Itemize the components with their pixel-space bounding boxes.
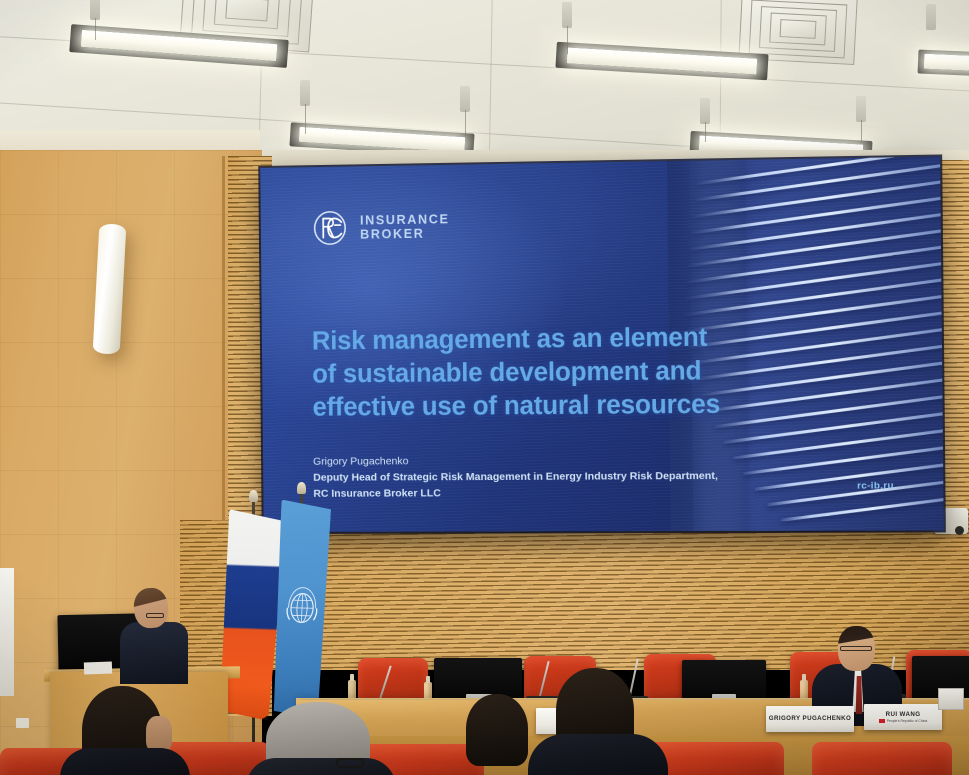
audience-chair — [648, 742, 784, 775]
flag-finial-icon — [297, 482, 306, 494]
logo-line-1: INSURANCE — [360, 212, 450, 228]
audience-shoulder — [246, 758, 396, 775]
audience-shoulder — [528, 734, 668, 775]
speaker-role-line-2: RC Insurance Broker LLC — [313, 484, 793, 502]
whiteboard-edge — [0, 568, 14, 696]
light-hanger — [856, 96, 866, 122]
nameplate-name: GRIGORY PUGACHENKO — [769, 715, 852, 722]
light-hanger — [700, 98, 710, 124]
logo-line-2: BROKER — [360, 226, 450, 242]
china-flag-icon — [879, 719, 885, 723]
slide-website-url: rc-ib.ru — [857, 480, 894, 491]
light-cable — [95, 18, 96, 40]
slide-title-line-3: effective use of natural resources — [312, 388, 751, 425]
nameplate-country: People's Republic of China — [879, 719, 928, 723]
brand-logo: INSURANCE BROKER — [311, 207, 450, 247]
framed-placard — [938, 688, 964, 710]
light-cable — [465, 110, 466, 136]
light-cable — [861, 120, 862, 142]
conference-hall-photo: INSURANCE BROKER Risk management as an e… — [0, 0, 969, 775]
speaker-glasses-icon — [146, 613, 164, 618]
speaker-torso — [120, 622, 188, 684]
audience-glasses-icon — [336, 758, 364, 768]
rc-monogram-icon — [311, 209, 350, 248]
light-cable — [705, 122, 706, 142]
light-cable — [305, 104, 306, 134]
flag-finial-icon — [249, 490, 258, 502]
light-hanger — [300, 80, 310, 106]
nameplate-name: RUI WANG — [886, 711, 921, 718]
presentation-screen: INSURANCE BROKER Risk management as an e… — [260, 157, 943, 532]
nameplate: RUI WANG People's Republic of China — [864, 704, 942, 730]
nameplate: GRIGORY PUGACHENKO — [766, 706, 854, 732]
speaker-head — [133, 587, 170, 629]
un-emblem-icon — [284, 580, 321, 637]
audience-head — [466, 694, 528, 766]
light-cable — [567, 26, 568, 54]
light-hanger — [90, 0, 100, 20]
slide-speaker-block: Grigory Pugachenko Deputy Head of Strate… — [313, 452, 794, 502]
light-hanger — [926, 4, 936, 30]
light-hanger — [562, 2, 572, 28]
slide-title-line-1: Risk management as an element — [312, 321, 751, 359]
podium-papers — [84, 662, 112, 675]
slide-title: Risk management as an element of sustain… — [312, 321, 752, 425]
audience-chair — [812, 742, 952, 775]
wall-socket-icon — [16, 718, 29, 728]
audience-shoulder — [60, 748, 190, 775]
speaker-role-line-1: Deputy Head of Strategic Risk Management… — [313, 468, 793, 486]
light-hanger — [460, 86, 470, 112]
audience-hand — [146, 716, 172, 752]
slide-title-line-2: of sustainable development and — [312, 355, 751, 392]
wall-speaker-lens-icon — [955, 526, 964, 535]
delegate-glasses-icon — [840, 646, 872, 651]
